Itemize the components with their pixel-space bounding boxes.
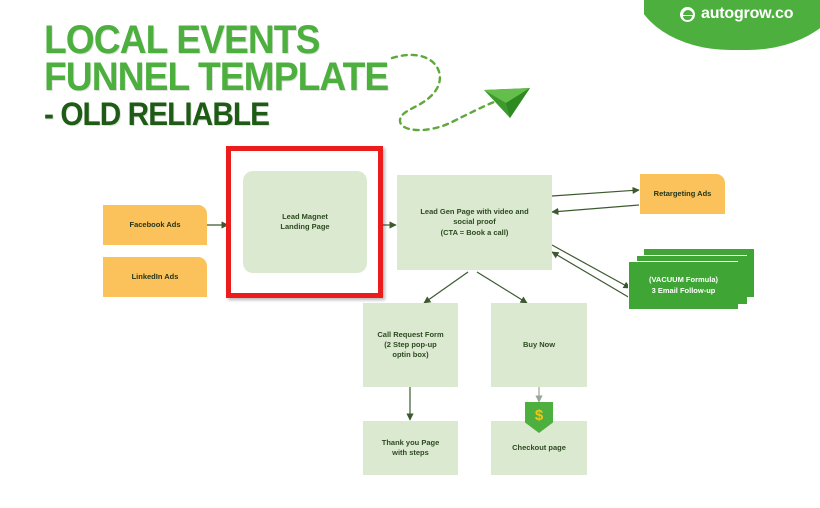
node-label: Retargeting Ads [654,189,712,199]
brand-logo: autogrow.co [644,0,820,52]
node-label: (VACUUM Formula) 3 Email Follow-up [649,275,718,296]
card-layer-front: (VACUUM Formula) 3 Email Follow-up [628,261,738,309]
node-label: Buy Now [523,340,555,350]
paper-plane-icon [484,88,530,118]
autogrow-face-icon [680,7,695,22]
node-lead-magnet[interactable]: Lead Magnet Landing Page [243,171,367,273]
node-label: LinkedIn Ads [132,272,179,282]
node-call-request-form[interactable]: Call Request Form (2 Step pop-up optin b… [363,303,458,387]
slide-canvas: autogrow.co LOCAL EVENTS FUNNEL TEMPLATE… [0,0,820,508]
node-label: Facebook Ads [130,220,181,230]
badge-glyph: $ [535,407,543,424]
node-lead-gen-page[interactable]: Lead Gen Page with video and social proo… [397,175,552,270]
page-title: LOCAL EVENTS FUNNEL TEMPLATE - OLD RELIA… [44,22,414,129]
title-line-1: LOCAL EVENTS [44,22,388,59]
node-label: Checkout page [512,443,566,453]
node-buy-now[interactable]: Buy Now [491,303,587,387]
node-linkedin-ads[interactable]: LinkedIn Ads [103,257,207,297]
node-retargeting-ads[interactable]: Retargeting Ads [640,174,725,214]
title-line-3: - OLD RELIABLE [44,100,388,129]
node-label: Thank you Page with steps [382,438,440,458]
logo-text: autogrow.co [701,5,793,23]
node-label: Lead Gen Page with video and social proo… [420,207,528,237]
node-thank-you-page[interactable]: Thank you Page with steps [363,421,458,475]
node-label: Call Request Form (2 Step pop-up optin b… [377,330,443,360]
node-label: Lead Magnet Landing Page [280,212,329,232]
node-email-followup[interactable]: (VACUUM Formula) 3 Email Follow-up [628,249,758,315]
title-line-2: FUNNEL TEMPLATE [44,59,388,96]
node-facebook-ads[interactable]: Facebook Ads [103,205,207,245]
